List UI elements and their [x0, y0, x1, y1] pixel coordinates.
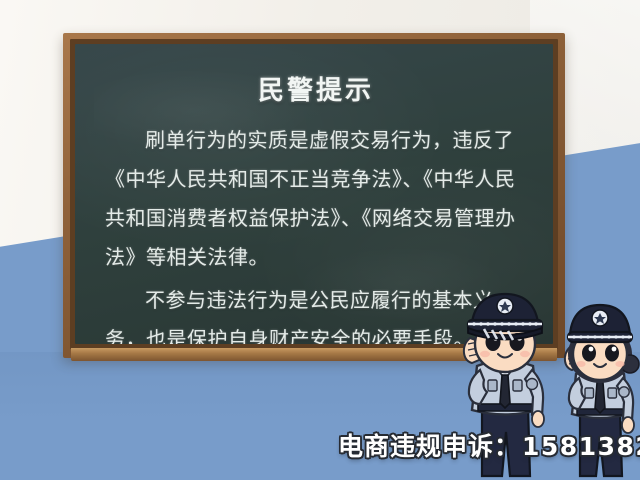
male-blush-right [520, 351, 530, 357]
female-eye-highlight-left [589, 347, 594, 352]
contact-caption-label: 电商违规申诉： [338, 432, 520, 461]
female-shoulder-patch [619, 387, 629, 397]
contact-caption-phone: 15813825595 [522, 432, 640, 461]
female-cap-braid-dots [572, 335, 630, 338]
male-tie [500, 375, 510, 408]
female-tie [595, 382, 605, 413]
blackboard-title: 民警提示 [105, 70, 527, 107]
screenshot-stage: 民警提示 刷单行为的实质是虚假交易行为，违反了《中华人民共和国不正当竞争法》、《… [0, 0, 640, 480]
male-shoulder-patch [527, 379, 538, 390]
female-eye-left [582, 345, 596, 362]
female-badge-right [608, 388, 617, 398]
male-badge-left [488, 380, 497, 391]
female-eye-highlight-right [612, 347, 617, 352]
male-blush-left [480, 351, 490, 357]
contact-caption: 电商违规申诉：15813825595 [338, 427, 640, 463]
male-badge-right [513, 380, 522, 391]
female-eye-right [605, 345, 619, 362]
female-blush-left [576, 361, 585, 367]
male-right-hand [532, 411, 544, 427]
male-cap-band [468, 320, 542, 331]
female-blush-right [615, 361, 624, 367]
blackboard-paragraph-1: 刷单行为的实质是虚假交易行为，违反了《中华人民共和国不正当竞争法》、《中华人民共… [105, 121, 527, 277]
female-badge-left [585, 388, 594, 398]
